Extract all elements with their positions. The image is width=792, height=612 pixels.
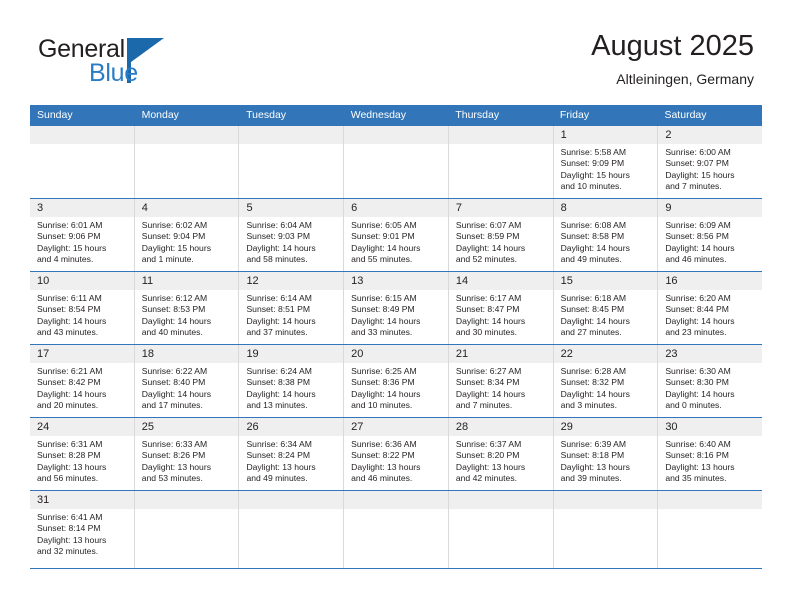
daylight-text-line2: and 52 minutes. xyxy=(456,254,548,265)
sunset-text: Sunset: 8:58 PM xyxy=(561,231,653,242)
calendar-week-row: 1Sunrise: 5:58 AMSunset: 9:09 PMDaylight… xyxy=(30,126,762,199)
sunrise-text: Sunrise: 6:34 AM xyxy=(246,439,338,450)
daylight-text-line2: and 46 minutes. xyxy=(665,254,757,265)
day-sun-info: Sunrise: 6:00 AMSunset: 9:07 PMDaylight:… xyxy=(658,144,762,193)
calendar-page: General Blue August 2025 Altleiningen, G… xyxy=(0,0,792,612)
day-number: 5 xyxy=(239,199,343,217)
day-sun-info: Sunrise: 6:15 AMSunset: 8:49 PMDaylight:… xyxy=(344,290,448,339)
sunset-text: Sunset: 8:56 PM xyxy=(665,231,757,242)
calendar-day-cell[interactable]: 28Sunrise: 6:37 AMSunset: 8:20 PMDayligh… xyxy=(449,418,554,490)
sunset-text: Sunset: 8:28 PM xyxy=(37,450,129,461)
day-number: 17 xyxy=(30,345,134,363)
day-sun-info: Sunrise: 6:30 AMSunset: 8:30 PMDaylight:… xyxy=(658,363,762,412)
day-number: 30 xyxy=(658,418,762,436)
calendar-day-cell[interactable]: 5Sunrise: 6:04 AMSunset: 9:03 PMDaylight… xyxy=(239,199,344,271)
daylight-text-line2: and 46 minutes. xyxy=(351,473,443,484)
daylight-text-line2: and 7 minutes. xyxy=(456,400,548,411)
daylight-text-line2: and 55 minutes. xyxy=(351,254,443,265)
sunrise-text: Sunrise: 6:36 AM xyxy=(351,439,443,450)
day-number: 31 xyxy=(30,491,134,509)
calendar-grid: SundayMondayTuesdayWednesdayThursdayFrid… xyxy=(30,105,762,569)
calendar-week-row: 24Sunrise: 6:31 AMSunset: 8:28 PMDayligh… xyxy=(30,418,762,491)
day-number: 1 xyxy=(554,126,658,144)
sunset-text: Sunset: 8:18 PM xyxy=(561,450,653,461)
sunset-text: Sunset: 8:26 PM xyxy=(142,450,234,461)
sunrise-text: Sunrise: 6:02 AM xyxy=(142,220,234,231)
day-number: 18 xyxy=(135,345,239,363)
sunrise-text: Sunrise: 6:12 AM xyxy=(142,293,234,304)
daylight-text-line2: and 7 minutes. xyxy=(665,181,757,192)
page-title: August 2025 xyxy=(591,28,754,64)
sunrise-text: Sunrise: 6:09 AM xyxy=(665,220,757,231)
calendar-day-cell[interactable]: 8Sunrise: 6:08 AMSunset: 8:58 PMDaylight… xyxy=(554,199,659,271)
sunset-text: Sunset: 8:30 PM xyxy=(665,377,757,388)
daylight-text-line2: and 49 minutes. xyxy=(246,473,338,484)
day-sun-info: Sunrise: 6:14 AMSunset: 8:51 PMDaylight:… xyxy=(239,290,343,339)
day-number: 24 xyxy=(30,418,134,436)
calendar-day-cell[interactable]: 30Sunrise: 6:40 AMSunset: 8:16 PMDayligh… xyxy=(658,418,762,490)
day-sun-info: Sunrise: 6:40 AMSunset: 8:16 PMDaylight:… xyxy=(658,436,762,485)
calendar-week-row: 17Sunrise: 6:21 AMSunset: 8:42 PMDayligh… xyxy=(30,345,762,418)
sunrise-text: Sunrise: 6:08 AM xyxy=(561,220,653,231)
weekday-header-row: SundayMondayTuesdayWednesdayThursdayFrid… xyxy=(30,105,762,126)
daylight-text-line1: Daylight: 13 hours xyxy=(246,462,338,473)
calendar-day-cell[interactable]: 15Sunrise: 6:18 AMSunset: 8:45 PMDayligh… xyxy=(554,272,659,344)
sunset-text: Sunset: 8:22 PM xyxy=(351,450,443,461)
sunrise-text: Sunrise: 6:15 AM xyxy=(351,293,443,304)
sunset-text: Sunset: 8:14 PM xyxy=(37,523,129,534)
sunrise-text: Sunrise: 6:17 AM xyxy=(456,293,548,304)
day-sun-info: Sunrise: 6:17 AMSunset: 8:47 PMDaylight:… xyxy=(449,290,553,339)
sunrise-text: Sunrise: 6:01 AM xyxy=(37,220,129,231)
sunset-text: Sunset: 9:09 PM xyxy=(561,158,653,169)
daylight-text-line1: Daylight: 15 hours xyxy=(665,170,757,181)
daylight-text-line1: Daylight: 14 hours xyxy=(246,316,338,327)
day-number: 14 xyxy=(449,272,553,290)
calendar-day-cell-empty xyxy=(30,126,135,198)
day-number: 9 xyxy=(658,199,762,217)
day-number xyxy=(554,491,658,509)
day-number xyxy=(135,491,239,509)
sunset-text: Sunset: 8:54 PM xyxy=(37,304,129,315)
sunset-text: Sunset: 8:40 PM xyxy=(142,377,234,388)
daylight-text-line1: Daylight: 14 hours xyxy=(37,316,129,327)
day-number: 13 xyxy=(344,272,448,290)
sunrise-text: Sunrise: 6:27 AM xyxy=(456,366,548,377)
sunset-text: Sunset: 8:59 PM xyxy=(456,231,548,242)
calendar-day-cell[interactable]: 31Sunrise: 6:41 AMSunset: 8:14 PMDayligh… xyxy=(30,491,135,568)
daylight-text-line2: and 23 minutes. xyxy=(665,327,757,338)
calendar-weeks: 1Sunrise: 5:58 AMSunset: 9:09 PMDaylight… xyxy=(30,126,762,569)
day-number xyxy=(344,491,448,509)
sunrise-text: Sunrise: 6:31 AM xyxy=(37,439,129,450)
daylight-text-line2: and 10 minutes. xyxy=(351,400,443,411)
calendar-day-cell[interactable]: 3Sunrise: 6:01 AMSunset: 9:06 PMDaylight… xyxy=(30,199,135,271)
daylight-text-line2: and 1 minute. xyxy=(142,254,234,265)
calendar-day-cell[interactable]: 20Sunrise: 6:25 AMSunset: 8:36 PMDayligh… xyxy=(344,345,449,417)
daylight-text-line1: Daylight: 14 hours xyxy=(456,243,548,254)
calendar-day-cell[interactable]: 19Sunrise: 6:24 AMSunset: 8:38 PMDayligh… xyxy=(239,345,344,417)
day-sun-info: Sunrise: 6:11 AMSunset: 8:54 PMDaylight:… xyxy=(30,290,134,339)
day-number: 12 xyxy=(239,272,343,290)
day-sun-info: Sunrise: 6:07 AMSunset: 8:59 PMDaylight:… xyxy=(449,217,553,266)
sunrise-text: Sunrise: 6:21 AM xyxy=(37,366,129,377)
daylight-text-line2: and 0 minutes. xyxy=(665,400,757,411)
sunset-text: Sunset: 8:45 PM xyxy=(561,304,653,315)
daylight-text-line2: and 20 minutes. xyxy=(37,400,129,411)
calendar-week-row: 10Sunrise: 6:11 AMSunset: 8:54 PMDayligh… xyxy=(30,272,762,345)
daylight-text-line1: Daylight: 13 hours xyxy=(665,462,757,473)
day-sun-info: Sunrise: 6:04 AMSunset: 9:03 PMDaylight:… xyxy=(239,217,343,266)
sunset-text: Sunset: 8:20 PM xyxy=(456,450,548,461)
day-sun-info: Sunrise: 6:22 AMSunset: 8:40 PMDaylight:… xyxy=(135,363,239,412)
calendar-day-cell[interactable]: 12Sunrise: 6:14 AMSunset: 8:51 PMDayligh… xyxy=(239,272,344,344)
daylight-text-line2: and 43 minutes. xyxy=(37,327,129,338)
daylight-text-line2: and 4 minutes. xyxy=(37,254,129,265)
daylight-text-line1: Daylight: 13 hours xyxy=(456,462,548,473)
daylight-text-line1: Daylight: 14 hours xyxy=(665,316,757,327)
daylight-text-line1: Daylight: 14 hours xyxy=(665,243,757,254)
calendar-day-cell-empty xyxy=(239,126,344,198)
day-sun-info: Sunrise: 6:28 AMSunset: 8:32 PMDaylight:… xyxy=(554,363,658,412)
daylight-text-line1: Daylight: 14 hours xyxy=(665,389,757,400)
daylight-text-line2: and 33 minutes. xyxy=(351,327,443,338)
daylight-text-line1: Daylight: 15 hours xyxy=(561,170,653,181)
daylight-text-line1: Daylight: 13 hours xyxy=(37,462,129,473)
calendar-day-cell[interactable]: 2Sunrise: 6:00 AMSunset: 9:07 PMDaylight… xyxy=(658,126,762,198)
day-sun-info: Sunrise: 6:21 AMSunset: 8:42 PMDaylight:… xyxy=(30,363,134,412)
calendar-day-cell[interactable]: 4Sunrise: 6:02 AMSunset: 9:04 PMDaylight… xyxy=(135,199,240,271)
day-sun-info: Sunrise: 6:25 AMSunset: 8:36 PMDaylight:… xyxy=(344,363,448,412)
sunrise-text: Sunrise: 6:25 AM xyxy=(351,366,443,377)
sunrise-text: Sunrise: 6:24 AM xyxy=(246,366,338,377)
daylight-text-line1: Daylight: 14 hours xyxy=(351,389,443,400)
sunrise-text: Sunrise: 6:14 AM xyxy=(246,293,338,304)
day-sun-info: Sunrise: 6:39 AMSunset: 8:18 PMDaylight:… xyxy=(554,436,658,485)
day-number: 15 xyxy=(554,272,658,290)
sunset-text: Sunset: 8:38 PM xyxy=(246,377,338,388)
day-sun-info: Sunrise: 5:58 AMSunset: 9:09 PMDaylight:… xyxy=(554,144,658,193)
sunrise-text: Sunrise: 6:37 AM xyxy=(456,439,548,450)
calendar-day-cell[interactable]: 6Sunrise: 6:05 AMSunset: 9:01 PMDaylight… xyxy=(344,199,449,271)
daylight-text-line2: and 3 minutes. xyxy=(561,400,653,411)
calendar-day-cell-empty xyxy=(135,126,240,198)
weekday-header-saturday: Saturday xyxy=(657,105,762,126)
calendar-day-cell[interactable]: 7Sunrise: 6:07 AMSunset: 8:59 PMDaylight… xyxy=(449,199,554,271)
weekday-header-tuesday: Tuesday xyxy=(239,105,344,126)
calendar-day-cell-empty xyxy=(135,491,240,568)
daylight-text-line1: Daylight: 14 hours xyxy=(142,316,234,327)
day-number: 3 xyxy=(30,199,134,217)
day-sun-info: Sunrise: 6:27 AMSunset: 8:34 PMDaylight:… xyxy=(449,363,553,412)
day-number: 11 xyxy=(135,272,239,290)
calendar-day-cell[interactable]: 10Sunrise: 6:11 AMSunset: 8:54 PMDayligh… xyxy=(30,272,135,344)
daylight-text-line1: Daylight: 13 hours xyxy=(37,535,129,546)
daylight-text-line2: and 30 minutes. xyxy=(456,327,548,338)
day-number: 19 xyxy=(239,345,343,363)
sunrise-text: Sunrise: 6:28 AM xyxy=(561,366,653,377)
calendar-day-cell[interactable]: 26Sunrise: 6:34 AMSunset: 8:24 PMDayligh… xyxy=(239,418,344,490)
daylight-text-line1: Daylight: 15 hours xyxy=(142,243,234,254)
calendar-day-cell[interactable]: 25Sunrise: 6:33 AMSunset: 8:26 PMDayligh… xyxy=(135,418,240,490)
page-header: General Blue August 2025 Altleiningen, G… xyxy=(30,28,762,98)
day-number xyxy=(135,126,239,144)
day-sun-info: Sunrise: 6:33 AMSunset: 8:26 PMDaylight:… xyxy=(135,436,239,485)
day-sun-info: Sunrise: 6:31 AMSunset: 8:28 PMDaylight:… xyxy=(30,436,134,485)
day-number: 20 xyxy=(344,345,448,363)
weekday-header-sunday: Sunday xyxy=(30,105,135,126)
daylight-text-line1: Daylight: 14 hours xyxy=(561,316,653,327)
sunrise-text: Sunrise: 6:18 AM xyxy=(561,293,653,304)
generalblue-logo[interactable]: General Blue xyxy=(38,36,248,94)
day-sun-info: Sunrise: 6:20 AMSunset: 8:44 PMDaylight:… xyxy=(658,290,762,339)
day-number: 6 xyxy=(344,199,448,217)
daylight-text-line1: Daylight: 14 hours xyxy=(246,243,338,254)
day-number xyxy=(239,491,343,509)
daylight-text-line1: Daylight: 13 hours xyxy=(561,462,653,473)
calendar-day-cell[interactable]: 27Sunrise: 6:36 AMSunset: 8:22 PMDayligh… xyxy=(344,418,449,490)
daylight-text-line1: Daylight: 14 hours xyxy=(246,389,338,400)
sunrise-text: Sunrise: 6:00 AM xyxy=(665,147,757,158)
sunset-text: Sunset: 8:42 PM xyxy=(37,377,129,388)
day-number: 28 xyxy=(449,418,553,436)
sunrise-text: Sunrise: 6:30 AM xyxy=(665,366,757,377)
day-number xyxy=(239,126,343,144)
daylight-text-line2: and 49 minutes. xyxy=(561,254,653,265)
daylight-text-line2: and 10 minutes. xyxy=(561,181,653,192)
day-number: 23 xyxy=(658,345,762,363)
day-sun-info: Sunrise: 6:08 AMSunset: 8:58 PMDaylight:… xyxy=(554,217,658,266)
day-number xyxy=(344,126,448,144)
day-number: 29 xyxy=(554,418,658,436)
daylight-text-line2: and 32 minutes. xyxy=(37,546,129,557)
calendar-day-cell[interactable]: 16Sunrise: 6:20 AMSunset: 8:44 PMDayligh… xyxy=(658,272,762,344)
sunset-text: Sunset: 9:01 PM xyxy=(351,231,443,242)
sunset-text: Sunset: 9:04 PM xyxy=(142,231,234,242)
page-subtitle: Altleiningen, Germany xyxy=(591,68,754,90)
calendar-day-cell[interactable]: 11Sunrise: 6:12 AMSunset: 8:53 PMDayligh… xyxy=(135,272,240,344)
calendar-day-cell-empty xyxy=(658,491,762,568)
daylight-text-line2: and 17 minutes. xyxy=(142,400,234,411)
sunset-text: Sunset: 8:36 PM xyxy=(351,377,443,388)
daylight-text-line1: Daylight: 13 hours xyxy=(351,462,443,473)
calendar-day-cell[interactable]: 9Sunrise: 6:09 AMSunset: 8:56 PMDaylight… xyxy=(658,199,762,271)
day-number: 10 xyxy=(30,272,134,290)
daylight-text-line1: Daylight: 13 hours xyxy=(142,462,234,473)
calendar-day-cell[interactable]: 1Sunrise: 5:58 AMSunset: 9:09 PMDaylight… xyxy=(554,126,659,198)
day-number: 26 xyxy=(239,418,343,436)
sunrise-text: Sunrise: 6:05 AM xyxy=(351,220,443,231)
day-number: 2 xyxy=(658,126,762,144)
day-sun-info: Sunrise: 6:05 AMSunset: 9:01 PMDaylight:… xyxy=(344,217,448,266)
sunset-text: Sunset: 8:16 PM xyxy=(665,450,757,461)
sunrise-text: Sunrise: 6:04 AM xyxy=(246,220,338,231)
calendar-day-cell[interactable]: 13Sunrise: 6:15 AMSunset: 8:49 PMDayligh… xyxy=(344,272,449,344)
daylight-text-line1: Daylight: 14 hours xyxy=(456,389,548,400)
calendar-week-row: 31Sunrise: 6:41 AMSunset: 8:14 PMDayligh… xyxy=(30,491,762,569)
day-number: 27 xyxy=(344,418,448,436)
calendar-day-cell[interactable]: 21Sunrise: 6:27 AMSunset: 8:34 PMDayligh… xyxy=(449,345,554,417)
day-number: 25 xyxy=(135,418,239,436)
sunset-text: Sunset: 8:53 PM xyxy=(142,304,234,315)
day-sun-info: Sunrise: 6:01 AMSunset: 9:06 PMDaylight:… xyxy=(30,217,134,266)
day-number: 8 xyxy=(554,199,658,217)
day-sun-info: Sunrise: 6:09 AMSunset: 8:56 PMDaylight:… xyxy=(658,217,762,266)
daylight-text-line1: Daylight: 14 hours xyxy=(561,243,653,254)
day-number xyxy=(449,126,553,144)
calendar-day-cell[interactable]: 17Sunrise: 6:21 AMSunset: 8:42 PMDayligh… xyxy=(30,345,135,417)
daylight-text-line2: and 56 minutes. xyxy=(37,473,129,484)
logo-word-blue: Blue xyxy=(89,60,138,86)
daylight-text-line1: Daylight: 14 hours xyxy=(351,243,443,254)
sunset-text: Sunset: 9:07 PM xyxy=(665,158,757,169)
calendar-day-cell-empty xyxy=(449,126,554,198)
sunrise-text: Sunrise: 6:40 AM xyxy=(665,439,757,450)
daylight-text-line2: and 13 minutes. xyxy=(246,400,338,411)
day-sun-info: Sunrise: 6:37 AMSunset: 8:20 PMDaylight:… xyxy=(449,436,553,485)
calendar-week-row: 3Sunrise: 6:01 AMSunset: 9:06 PMDaylight… xyxy=(30,199,762,272)
day-number: 22 xyxy=(554,345,658,363)
day-number xyxy=(30,126,134,144)
sunrise-text: Sunrise: 6:22 AM xyxy=(142,366,234,377)
sunrise-text: Sunrise: 6:41 AM xyxy=(37,512,129,523)
day-number: 21 xyxy=(449,345,553,363)
day-number: 7 xyxy=(449,199,553,217)
day-sun-info: Sunrise: 6:12 AMSunset: 8:53 PMDaylight:… xyxy=(135,290,239,339)
sunrise-text: Sunrise: 6:11 AM xyxy=(37,293,129,304)
day-number xyxy=(658,491,762,509)
calendar-day-cell[interactable]: 24Sunrise: 6:31 AMSunset: 8:28 PMDayligh… xyxy=(30,418,135,490)
daylight-text-line2: and 35 minutes. xyxy=(665,473,757,484)
day-number: 16 xyxy=(658,272,762,290)
sunset-text: Sunset: 8:34 PM xyxy=(456,377,548,388)
sunset-text: Sunset: 8:44 PM xyxy=(665,304,757,315)
calendar-day-cell[interactable]: 23Sunrise: 6:30 AMSunset: 8:30 PMDayligh… xyxy=(658,345,762,417)
calendar-day-cell[interactable]: 29Sunrise: 6:39 AMSunset: 8:18 PMDayligh… xyxy=(554,418,659,490)
day-sun-info: Sunrise: 6:24 AMSunset: 8:38 PMDaylight:… xyxy=(239,363,343,412)
daylight-text-line2: and 37 minutes. xyxy=(246,327,338,338)
daylight-text-line2: and 58 minutes. xyxy=(246,254,338,265)
sunrise-text: Sunrise: 6:07 AM xyxy=(456,220,548,231)
day-sun-info: Sunrise: 6:36 AMSunset: 8:22 PMDaylight:… xyxy=(344,436,448,485)
calendar-day-cell[interactable]: 14Sunrise: 6:17 AMSunset: 8:47 PMDayligh… xyxy=(449,272,554,344)
sunrise-text: Sunrise: 6:20 AM xyxy=(665,293,757,304)
calendar-day-cell-empty xyxy=(554,491,659,568)
daylight-text-line1: Daylight: 14 hours xyxy=(142,389,234,400)
sunrise-text: Sunrise: 5:58 AM xyxy=(561,147,653,158)
calendar-day-cell[interactable]: 18Sunrise: 6:22 AMSunset: 8:40 PMDayligh… xyxy=(135,345,240,417)
sunrise-text: Sunrise: 6:33 AM xyxy=(142,439,234,450)
sunrise-text: Sunrise: 6:39 AM xyxy=(561,439,653,450)
calendar-day-cell-empty xyxy=(344,491,449,568)
daylight-text-line1: Daylight: 14 hours xyxy=(456,316,548,327)
daylight-text-line2: and 39 minutes. xyxy=(561,473,653,484)
day-sun-info: Sunrise: 6:02 AMSunset: 9:04 PMDaylight:… xyxy=(135,217,239,266)
sunset-text: Sunset: 8:47 PM xyxy=(456,304,548,315)
daylight-text-line1: Daylight: 14 hours xyxy=(37,389,129,400)
weekday-header-friday: Friday xyxy=(553,105,658,126)
weekday-header-wednesday: Wednesday xyxy=(344,105,449,126)
daylight-text-line2: and 40 minutes. xyxy=(142,327,234,338)
sunset-text: Sunset: 8:32 PM xyxy=(561,377,653,388)
daylight-text-line2: and 42 minutes. xyxy=(456,473,548,484)
calendar-day-cell[interactable]: 22Sunrise: 6:28 AMSunset: 8:32 PMDayligh… xyxy=(554,345,659,417)
day-sun-info: Sunrise: 6:34 AMSunset: 8:24 PMDaylight:… xyxy=(239,436,343,485)
calendar-day-cell-empty xyxy=(239,491,344,568)
calendar-day-cell-empty xyxy=(344,126,449,198)
sunset-text: Sunset: 9:03 PM xyxy=(246,231,338,242)
day-sun-info: Sunrise: 6:18 AMSunset: 8:45 PMDaylight:… xyxy=(554,290,658,339)
title-block: August 2025 Altleiningen, Germany xyxy=(591,28,754,90)
daylight-text-line1: Daylight: 14 hours xyxy=(561,389,653,400)
day-number xyxy=(449,491,553,509)
calendar-day-cell-empty xyxy=(449,491,554,568)
weekday-header-thursday: Thursday xyxy=(448,105,553,126)
daylight-text-line1: Daylight: 15 hours xyxy=(37,243,129,254)
day-number: 4 xyxy=(135,199,239,217)
sunset-text: Sunset: 8:51 PM xyxy=(246,304,338,315)
daylight-text-line2: and 27 minutes. xyxy=(561,327,653,338)
day-sun-info: Sunrise: 6:41 AMSunset: 8:14 PMDaylight:… xyxy=(30,509,134,558)
sunset-text: Sunset: 8:49 PM xyxy=(351,304,443,315)
daylight-text-line2: and 53 minutes. xyxy=(142,473,234,484)
sunset-text: Sunset: 9:06 PM xyxy=(37,231,129,242)
weekday-header-monday: Monday xyxy=(135,105,240,126)
daylight-text-line1: Daylight: 14 hours xyxy=(351,316,443,327)
sunset-text: Sunset: 8:24 PM xyxy=(246,450,338,461)
